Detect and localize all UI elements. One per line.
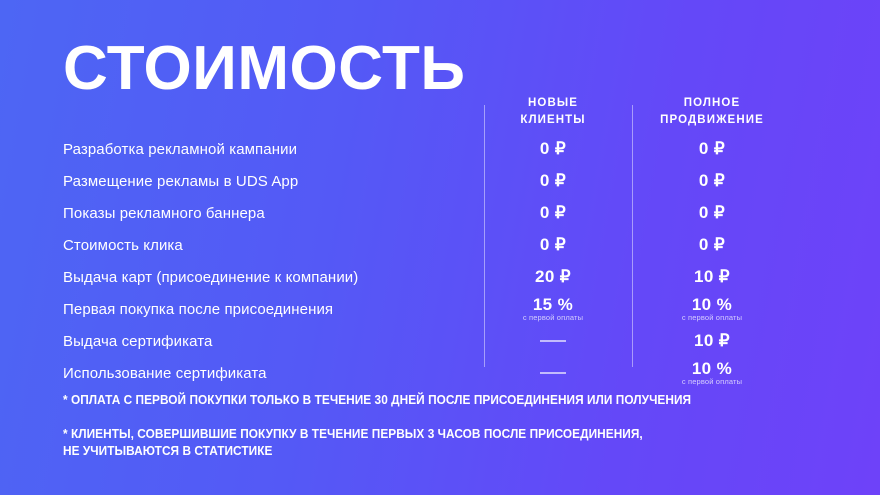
price-value: 0 ₽ <box>540 172 566 190</box>
row-label: Выдача сертификата <box>63 325 212 357</box>
row-label: Использование сертификата <box>63 357 267 389</box>
row-label: Стоимость клика <box>63 229 183 261</box>
price-cell-full-promotion: 0 ₽ <box>637 165 787 197</box>
price-cell-full-promotion: 10 %с первой оплаты <box>637 293 787 325</box>
column-header-new-clients: НОВЫЕ КЛИЕНТЫ <box>478 95 628 128</box>
price-value-empty-dash <box>540 372 566 374</box>
price-subnote: с первой оплаты <box>682 314 742 322</box>
price-value: 20 ₽ <box>535 268 571 286</box>
price-cell-full-promotion: 0 ₽ <box>637 197 787 229</box>
price-cell-new-clients: 0 ₽ <box>478 133 628 165</box>
table-row: Размещение рекламы в UDS App0 ₽0 ₽ <box>0 165 880 197</box>
row-label: Размещение рекламы в UDS App <box>63 165 298 197</box>
price-value: 10 % <box>692 296 732 314</box>
price-value: 0 ₽ <box>699 140 725 158</box>
price-value: 0 ₽ <box>540 204 566 222</box>
price-cell-full-promotion: 0 ₽ <box>637 229 787 261</box>
price-value: 10 % <box>692 360 732 378</box>
price-value: 0 ₽ <box>540 140 566 158</box>
price-value: 0 ₽ <box>540 236 566 254</box>
pricing-table: Разработка рекламной кампании0 ₽0 ₽Разме… <box>0 133 880 389</box>
row-label: Разработка рекламной кампании <box>63 133 297 165</box>
price-cell-full-promotion: 0 ₽ <box>637 133 787 165</box>
price-cell-new-clients: 15 %с первой оплаты <box>478 293 628 325</box>
table-row: Показы рекламного баннера0 ₽0 ₽ <box>0 197 880 229</box>
price-cell-new-clients: 0 ₽ <box>478 165 628 197</box>
row-label: Первая покупка после присоединения <box>63 293 333 325</box>
page-title: СТОИМОСТЬ <box>63 38 465 100</box>
price-value: 0 ₽ <box>699 204 725 222</box>
price-cell-full-promotion: 10 ₽ <box>637 261 787 293</box>
table-row: Использование сертификата10 %с первой оп… <box>0 357 880 389</box>
price-value-empty-dash <box>540 340 566 342</box>
price-subnote: с первой оплаты <box>523 314 583 322</box>
table-row: Разработка рекламной кампании0 ₽0 ₽ <box>0 133 880 165</box>
footnote-1: * ОПЛАТА С ПЕРВОЙ ПОКУПКИ ТОЛЬКО В ТЕЧЕН… <box>63 392 806 409</box>
price-cell-new-clients <box>478 357 628 389</box>
row-label: Выдача карт (присоединение к компании) <box>63 261 358 293</box>
table-row: Выдача сертификата10 ₽ <box>0 325 880 357</box>
price-cell-new-clients <box>478 325 628 357</box>
price-cell-new-clients: 20 ₽ <box>478 261 628 293</box>
price-cell-new-clients: 0 ₽ <box>478 197 628 229</box>
row-label: Показы рекламного баннера <box>63 197 265 229</box>
price-value: 0 ₽ <box>699 236 725 254</box>
price-cell-full-promotion: 10 ₽ <box>637 325 787 357</box>
table-row: Первая покупка после присоединения15 %с … <box>0 293 880 325</box>
column-header-full-promotion: ПОЛНОЕ ПРОДВИЖЕНИЕ <box>637 95 787 128</box>
table-row: Выдача карт (присоединение к компании)20… <box>0 261 880 293</box>
table-row: Стоимость клика0 ₽0 ₽ <box>0 229 880 261</box>
price-cell-new-clients: 0 ₽ <box>478 229 628 261</box>
price-value: 0 ₽ <box>699 172 725 190</box>
price-subnote: с первой оплаты <box>682 378 742 386</box>
price-value: 10 ₽ <box>694 332 730 350</box>
price-cell-full-promotion: 10 %с первой оплаты <box>637 357 787 389</box>
em-dash-icon <box>540 340 566 342</box>
price-value: 10 ₽ <box>694 268 730 286</box>
footnote-2: * КЛИЕНТЫ, СОВЕРШИВШИЕ ПОКУПКУ В ТЕЧЕНИЕ… <box>63 426 806 460</box>
em-dash-icon <box>540 372 566 374</box>
footnotes: * ОПЛАТА С ПЕРВОЙ ПОКУПКИ ТОЛЬКО В ТЕЧЕН… <box>63 392 853 460</box>
pricing-slide: СТОИМОСТЬ НОВЫЕ КЛИЕНТЫ ПОЛНОЕ ПРОДВИЖЕН… <box>0 0 880 495</box>
price-value: 15 % <box>533 296 573 314</box>
